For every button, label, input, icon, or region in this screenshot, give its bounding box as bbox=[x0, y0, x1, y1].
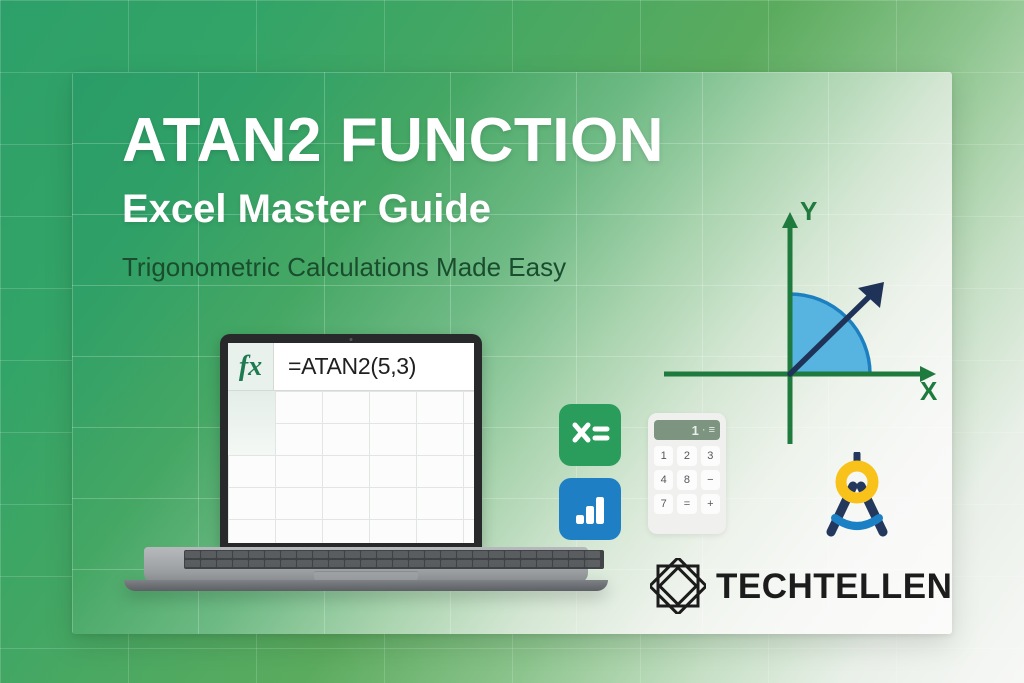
keyboard-key bbox=[233, 551, 248, 558]
calculator-key[interactable]: 8 bbox=[677, 470, 696, 490]
keyboard-key bbox=[553, 560, 568, 567]
keyboard-key bbox=[441, 551, 456, 558]
laptop-base bbox=[116, 547, 616, 593]
drafting-compass-icon bbox=[814, 452, 900, 544]
keyboard-key bbox=[201, 560, 216, 567]
laptop-keyboard bbox=[184, 550, 604, 569]
keyboard-key bbox=[473, 551, 488, 558]
keyboard-key bbox=[281, 551, 296, 558]
keyboard-key bbox=[265, 551, 280, 558]
keyboard-key bbox=[505, 551, 520, 558]
multiply-equals-icon bbox=[559, 404, 621, 466]
formula-input[interactable]: =ATAN2(5,3) bbox=[274, 343, 474, 390]
x-axis-label: X bbox=[920, 376, 937, 407]
keyboard-key bbox=[361, 551, 376, 558]
y-axis-label: Y bbox=[800, 196, 817, 227]
keyboard-key bbox=[345, 551, 360, 558]
page-title: ATAN2 FUNCTION bbox=[122, 108, 842, 173]
trigonometry-axis-diagram: Y X bbox=[652, 192, 942, 452]
keyboard-key bbox=[233, 560, 248, 567]
icon-stack bbox=[559, 404, 621, 540]
keyboard-key bbox=[521, 560, 536, 567]
content-card: ATAN2 FUNCTION Excel Master Guide Trigon… bbox=[72, 72, 952, 634]
calculator-key[interactable]: = bbox=[677, 494, 696, 514]
keyboard-key bbox=[393, 560, 408, 567]
calculator-key[interactable]: 7 bbox=[654, 494, 673, 514]
keyboard-key bbox=[265, 560, 280, 567]
excel-formula-bar: fx =ATAN2(5,3) bbox=[228, 343, 474, 391]
compass-ring bbox=[841, 466, 873, 498]
keyboard-key bbox=[249, 551, 264, 558]
keyboard-key bbox=[441, 560, 456, 567]
keyboard-key bbox=[457, 551, 472, 558]
keyboard-key bbox=[585, 551, 600, 558]
keyboard-key bbox=[489, 551, 504, 558]
fx-icon: fx bbox=[228, 343, 274, 390]
keyboard-key bbox=[489, 560, 504, 567]
keyboard-key bbox=[425, 560, 440, 567]
poster-canvas: ATAN2 FUNCTION Excel Master Guide Trigon… bbox=[0, 0, 1024, 683]
keyboard-key bbox=[185, 551, 200, 558]
keyboard-key bbox=[217, 560, 232, 567]
keyboard-key bbox=[409, 551, 424, 558]
calculator-key[interactable]: − bbox=[701, 470, 720, 490]
keyboard-key bbox=[249, 560, 264, 567]
keyboard-key bbox=[313, 560, 328, 567]
keyboard-key bbox=[569, 560, 584, 567]
laptop-screen: fx =ATAN2(5,3) bbox=[228, 343, 474, 543]
keyboard-key bbox=[297, 560, 312, 567]
keyboard-key bbox=[425, 551, 440, 558]
keyboard-key bbox=[377, 560, 392, 567]
keyboard-key bbox=[569, 551, 584, 558]
calculator-keypad[interactable]: 1 2 3 4 8 − 7 = + bbox=[654, 446, 720, 514]
keyboard-key bbox=[329, 560, 344, 567]
keyboard-key bbox=[409, 560, 424, 567]
keyboard-key bbox=[537, 560, 552, 567]
brand-lockup: TECHTELLENT bbox=[650, 558, 952, 614]
keyboard-key bbox=[585, 560, 600, 567]
keyboard-key bbox=[217, 551, 232, 558]
keyboard-key bbox=[393, 551, 408, 558]
techtellent-octagram-logo bbox=[650, 558, 706, 614]
spreadsheet-header-cell bbox=[228, 391, 275, 455]
compass-arc bbox=[835, 518, 879, 526]
brand-name: TECHTELLENT bbox=[716, 569, 952, 604]
keyboard-key bbox=[553, 551, 568, 558]
keyboard-key bbox=[377, 551, 392, 558]
calculator-key[interactable]: 4 bbox=[654, 470, 673, 490]
laptop-camera-icon bbox=[350, 338, 353, 341]
calculator-key[interactable]: + bbox=[701, 494, 720, 514]
laptop-body bbox=[144, 547, 588, 583]
keyboard-key bbox=[505, 560, 520, 567]
keyboard-key bbox=[313, 551, 328, 558]
keyboard-key bbox=[521, 551, 536, 558]
laptop-foot bbox=[124, 580, 608, 591]
keyboard-key bbox=[185, 560, 200, 567]
keyboard-key bbox=[457, 560, 472, 567]
keyboard-key bbox=[281, 560, 296, 567]
laptop-illustration: fx =ATAN2(5,3) bbox=[116, 334, 616, 634]
keyboard-key bbox=[345, 560, 360, 567]
keyboard-key bbox=[473, 560, 488, 567]
keyboard-key bbox=[329, 551, 344, 558]
keyboard-key bbox=[201, 551, 216, 558]
spreadsheet-grid[interactable] bbox=[228, 391, 474, 543]
keyboard-key bbox=[297, 551, 312, 558]
bar-chart-icon bbox=[559, 478, 621, 540]
keyboard-key bbox=[361, 560, 376, 567]
laptop-lid: fx =ATAN2(5,3) bbox=[220, 334, 482, 549]
y-axis-arrowhead bbox=[782, 212, 798, 228]
keyboard-key bbox=[537, 551, 552, 558]
